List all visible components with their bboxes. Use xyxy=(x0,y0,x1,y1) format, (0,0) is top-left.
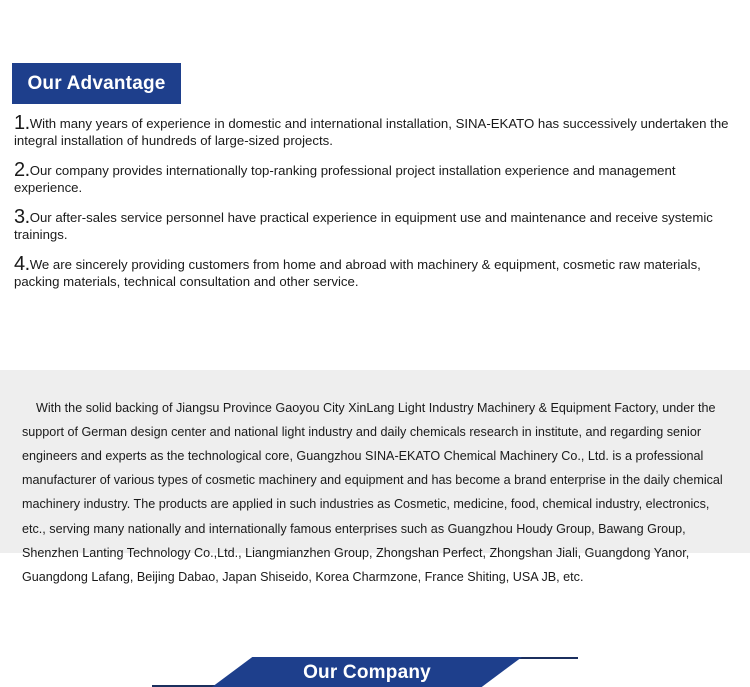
advantage-item-text: Our after-sales service personnel have p… xyxy=(14,210,713,242)
our-company-heading-label: Our Company xyxy=(303,663,431,682)
our-company-section: With the solid backing of Jiangsu Provin… xyxy=(0,370,750,553)
advantage-item: 4.We are sincerely providing customers f… xyxy=(14,256,736,290)
advantage-item-number: 3. xyxy=(14,206,30,228)
advantage-item: 1.With many years of experience in domes… xyxy=(14,115,736,149)
our-advantage-heading-label: Our Advantage xyxy=(27,74,165,93)
advantage-item-text: Our company provides internationally top… xyxy=(14,163,676,195)
our-advantage-list: 1.With many years of experience in domes… xyxy=(14,115,736,303)
advantage-item-number: 4. xyxy=(14,253,30,275)
banner-rule-right xyxy=(512,657,578,659)
advantage-item: 3.Our after-sales service personnel have… xyxy=(14,209,736,243)
advantage-item-number: 2. xyxy=(14,159,30,181)
advantage-item-number: 1. xyxy=(14,112,30,134)
advantage-item: 2.Our company provides internationally t… xyxy=(14,162,736,196)
our-company-banner: Our Company xyxy=(0,326,750,368)
advantage-item-text: We are sincerely providing customers fro… xyxy=(14,257,701,289)
our-advantage-heading-badge: Our Advantage xyxy=(12,63,181,104)
advantage-item-text: With many years of experience in domesti… xyxy=(14,116,728,148)
our-company-paragraph: With the solid backing of Jiangsu Provin… xyxy=(22,396,728,590)
our-company-heading-shape: Our Company xyxy=(212,657,522,687)
